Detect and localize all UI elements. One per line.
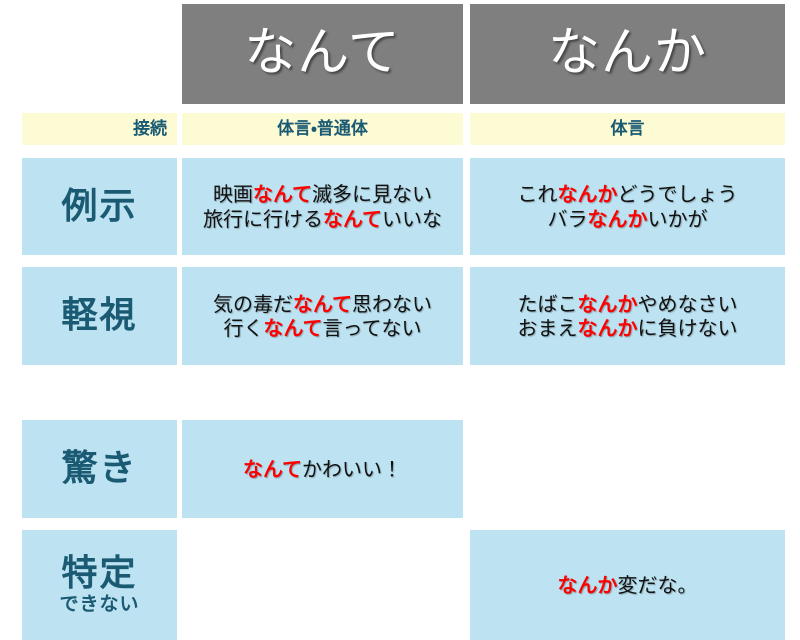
example-line: これなんかどうでしょう	[518, 182, 738, 206]
highlighted-keyword: なんて	[264, 316, 323, 340]
cell-odoroki-nanka-empty	[470, 420, 785, 518]
example-line: たばこなんかやめなさい	[518, 292, 738, 316]
example-text: 行く	[224, 316, 264, 340]
example-line: 行くなんて言ってない	[213, 316, 432, 340]
row-label-tokutei: 特定 できない	[22, 530, 177, 640]
cell-keishi-nanka: たばこなんかやめなさいおまえなんかに負けない	[470, 267, 785, 365]
example-text: たばこ	[518, 292, 578, 316]
cell-keishi-nante: 気の毒だなんて思わない行くなんて言ってない	[182, 267, 463, 365]
column-header-nanka: なんか	[470, 4, 785, 104]
cell-odoroki-nante: なんてかわいい！	[182, 420, 463, 518]
column-header-nante: なんて	[182, 4, 463, 104]
highlighted-keyword: なんて	[243, 457, 302, 481]
cell-reiji-nanka: これなんかどうでしょうバラなんかいかが	[470, 158, 785, 255]
highlighted-keyword: なんか	[578, 292, 638, 316]
example-line: なんか変だな。	[558, 573, 698, 597]
example-text: いかが	[648, 207, 708, 231]
example-text: 映画	[213, 182, 253, 206]
subheader-nanka-connection: 体言	[470, 113, 785, 145]
example-text: これ	[518, 182, 558, 206]
highlighted-keyword: なんか	[558, 573, 618, 597]
example-text: 旅行に行ける	[203, 207, 323, 231]
example-text: 言ってない	[323, 316, 422, 340]
row-label-odoroki: 驚き	[22, 420, 177, 518]
example-text: 気の毒だ	[213, 292, 293, 316]
row-label-reiji: 例示	[22, 158, 177, 255]
example-line: 気の毒だなんて思わない	[213, 292, 432, 316]
row-label-odoroki-main: 驚き	[61, 449, 137, 489]
row-label-tokutei-main: 特定	[61, 554, 137, 594]
example-line: おまえなんかに負けない	[518, 316, 738, 340]
example-text: 変だな。	[618, 573, 698, 597]
example-line: なんてかわいい！	[243, 457, 402, 481]
example-text: 思わない	[352, 292, 432, 316]
highlighted-keyword: なんか	[578, 316, 638, 340]
row-label-keishi: 軽視	[22, 267, 177, 365]
example-line: 映画なんて滅多に見ない	[203, 182, 442, 206]
row-label-tokutei-sub: できない	[59, 594, 139, 616]
cell-reiji-nante: 映画なんて滅多に見ない旅行に行けるなんていいな	[182, 158, 463, 255]
example-line: バラなんかいかが	[518, 207, 738, 231]
comparison-table-slide: なんて なんか 接続 体言・普通体 体言 例示 映画なんて滅多に見ない旅行に行け…	[0, 0, 800, 640]
highlighted-keyword: なんか	[588, 207, 648, 231]
example-text: どうでしょう	[618, 182, 738, 206]
example-text: に負けない	[638, 316, 738, 340]
highlighted-keyword: なんて	[253, 182, 312, 206]
row-label-reiji-main: 例示	[61, 187, 137, 227]
cell-tokutei-nanka: なんか変だな。	[470, 530, 785, 640]
cell-tokutei-nante-empty	[182, 530, 463, 640]
subheader-row-label-setsuzoku: 接続	[22, 113, 177, 145]
example-text: おまえ	[518, 316, 578, 340]
subheader-nante-connection: 体言・普通体	[182, 113, 463, 145]
example-text: バラ	[548, 207, 588, 231]
example-text: いいな	[382, 207, 442, 231]
row-label-keishi-main: 軽視	[61, 296, 137, 336]
example-text: 滅多に見ない	[312, 182, 432, 206]
example-line: 旅行に行けるなんていいな	[203, 207, 442, 231]
highlighted-keyword: なんて	[293, 292, 352, 316]
example-text: かわいい！	[302, 457, 402, 481]
example-text: やめなさい	[638, 292, 738, 316]
highlighted-keyword: なんか	[558, 182, 618, 206]
highlighted-keyword: なんて	[323, 207, 382, 231]
